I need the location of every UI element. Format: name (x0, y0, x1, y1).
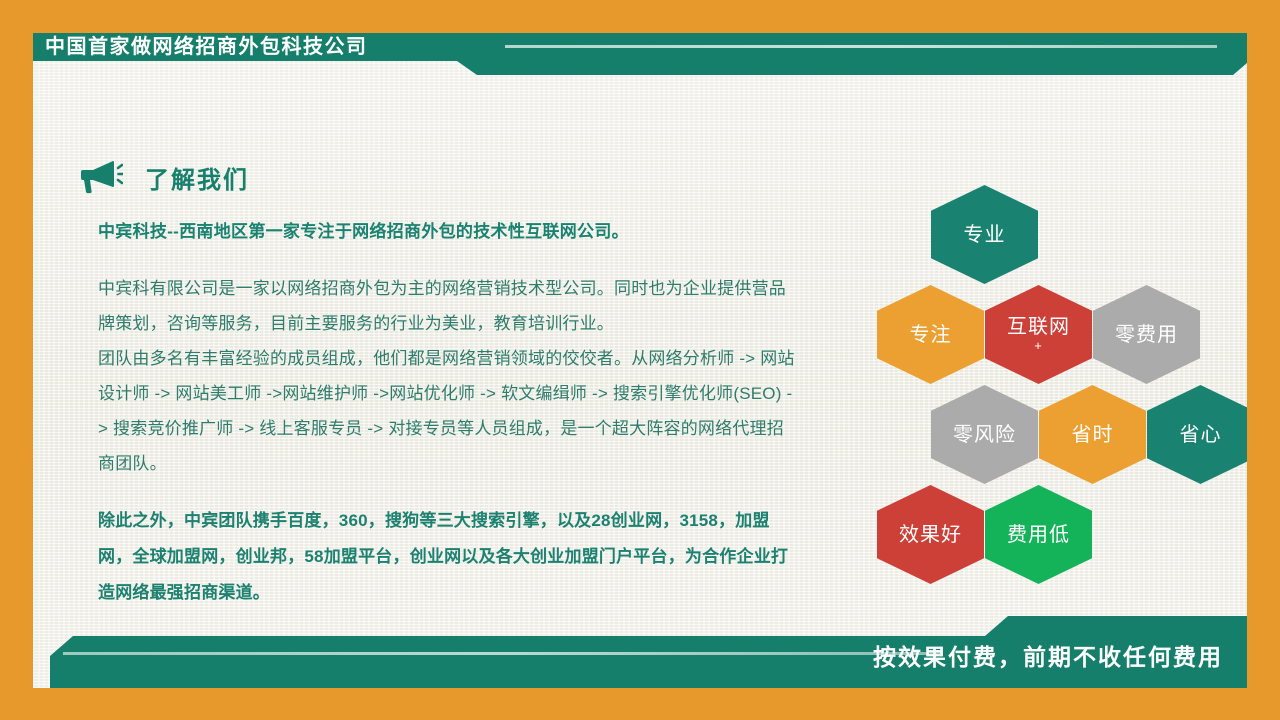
hexagon-tile[interactable]: 省时 (1039, 385, 1146, 484)
hexagon-label: 省心 (1180, 424, 1222, 446)
header-divider-line (505, 45, 1217, 48)
hexagon-label: 省时 (1072, 424, 1114, 446)
hexagon-tile[interactable]: 专注 (877, 285, 984, 384)
paragraph-team-roles: 团队由多名有丰富经验的成员组成，他们都是网络营销领域的佼佼者。从网络分析师 ->… (98, 341, 798, 481)
hexagon-label: 专业 (964, 224, 1006, 246)
lead-statement: 中宾科技--西南地区第一家专注于网络招商外包的技术性互联网公司。 (98, 219, 798, 245)
hexagon-value-cluster: 专业专注互联网+零费用零风险省时省心效果好费用低 (853, 173, 1247, 583)
page-title: 中国首家做网络招商外包科技公司 (45, 33, 368, 61)
megaphone-icon (81, 159, 123, 195)
hexagon-label: 零风险 (953, 424, 1016, 446)
hexagon-label: 互联网 (1007, 316, 1070, 338)
hexagon-label: 费用低 (1007, 524, 1070, 546)
about-text-column: 中宾科技--西南地区第一家专注于网络招商外包的技术性互联网公司。 中宾科有限公司… (98, 219, 798, 611)
header-bar: 中国首家做网络招商外包科技公司 (33, 33, 1247, 75)
footer-slogan: 按效果付费，前期不收任何费用 (873, 638, 1223, 672)
hexagon-tile[interactable]: 省心 (1147, 385, 1247, 484)
hexagon-tile[interactable]: 专业 (931, 185, 1038, 284)
section-title: 了解我们 (145, 160, 249, 195)
paragraph-company-intro: 中宾科有限公司是一家以网络招商外包为主的网络营销技术型公司。同时也为企业提供营品… (98, 271, 798, 341)
hexagon-tile[interactable]: 费用低 (985, 485, 1092, 584)
hexagon-label: 专注 (910, 324, 952, 346)
footer-bar: 按效果付费，前期不收任何费用 (33, 616, 1247, 688)
hexagon-sublabel: + (1034, 338, 1043, 353)
content-panel: 中国首家做网络招商外包科技公司 了解我们 中宾科技--西南地区第一家专注于网络招… (33, 33, 1247, 688)
footer-divider-line (63, 652, 943, 655)
hexagon-label: 零费用 (1115, 324, 1178, 346)
paragraph-partners: 除此之外，中宾团队携手百度，360，搜狗等三大搜索引擎，以及28创业网，3158… (98, 503, 798, 611)
section-heading: 了解我们 (81, 159, 249, 195)
hexagon-label: 效果好 (899, 524, 962, 546)
hexagon-tile[interactable]: 效果好 (877, 485, 984, 584)
hexagon-tile[interactable]: 零风险 (931, 385, 1038, 484)
hexagon-tile[interactable]: 零费用 (1093, 285, 1200, 384)
hexagon-tile[interactable]: 互联网+ (985, 285, 1092, 384)
